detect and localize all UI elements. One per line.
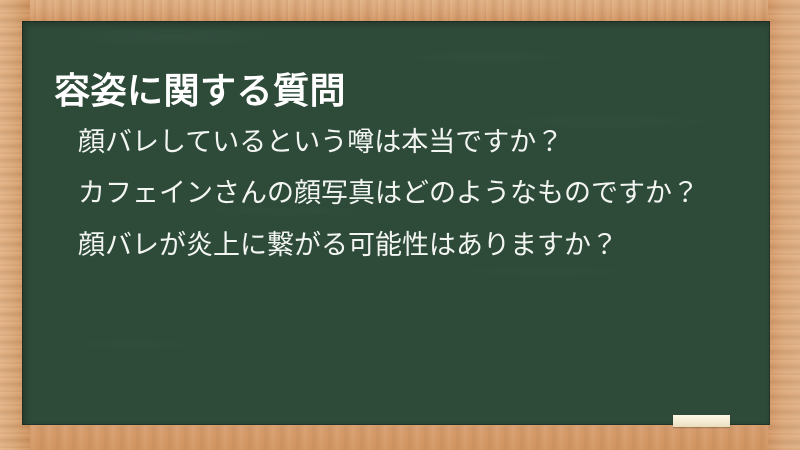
question-item-1: 顔バレしているという噂は本当ですか？ — [78, 124, 778, 162]
chalkboard-slide: 容姿に関する質問 顔バレしているという噂は本当ですか？ カフェインさんの顔写真は… — [0, 0, 800, 450]
question-list: 顔バレしているという噂は本当ですか？ カフェインさんの顔写真はどのようなものです… — [78, 124, 778, 278]
chalk-piece — [673, 415, 730, 427]
question-item-3: 顔バレが炎上に繋がる可能性はありますか？ — [78, 227, 778, 265]
chalkboard-surface: 容姿に関する質問 顔バレしているという噂は本当ですか？ カフェインさんの顔写真は… — [22, 21, 770, 425]
question-item-2: カフェインさんの顔写真はどのようなものですか？ — [78, 175, 778, 213]
frame-bottom-rail — [0, 424, 800, 450]
slide-title: 容姿に関する質問 — [54, 71, 346, 112]
